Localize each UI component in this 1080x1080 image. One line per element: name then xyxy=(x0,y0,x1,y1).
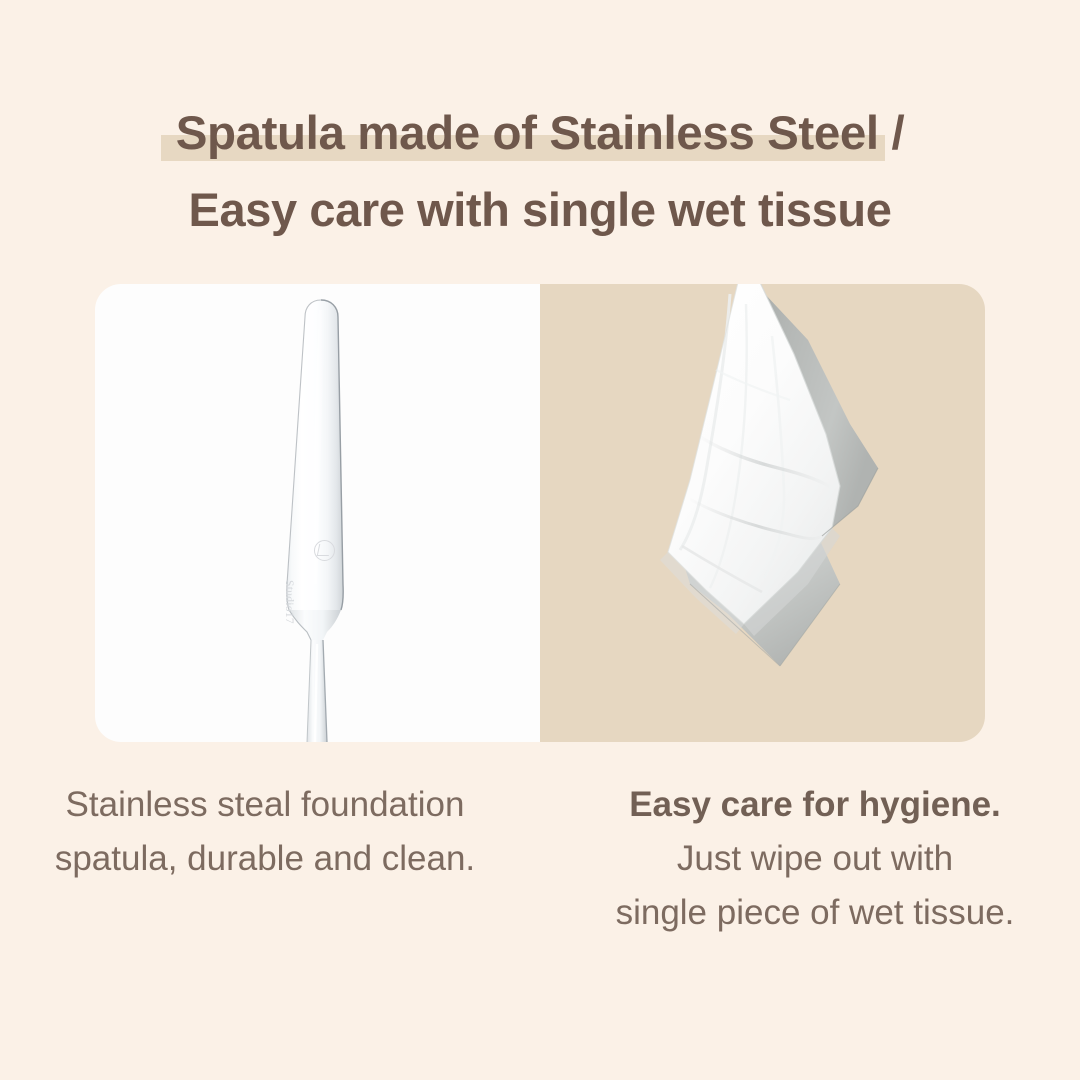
brand-engraving-text: Studio17 xyxy=(283,580,295,646)
caption-left-line-2: spatula, durable and clean. xyxy=(0,832,530,886)
tissue-panel xyxy=(540,284,985,742)
caption-left: Stainless steal foundation spatula, dura… xyxy=(0,778,544,940)
image-card: Studio17 xyxy=(95,284,985,742)
product-feature-card: Spatula made of Stainless Steel / Easy c… xyxy=(0,0,1080,1080)
caption-right-line-3: single piece of wet tissue. xyxy=(550,886,1080,940)
caption-right: Easy care for hygiene. Just wipe out wit… xyxy=(544,778,1080,940)
brand-logo-icon xyxy=(314,540,335,561)
headline-highlighted-text: Spatula made of Stainless Steel xyxy=(176,96,879,172)
tissue-image xyxy=(540,284,985,742)
headline-block: Spatula made of Stainless Steel / Easy c… xyxy=(0,96,1080,248)
caption-left-line-1: Stainless steal foundation xyxy=(0,778,530,832)
captions-block: Stainless steal foundation spatula, dura… xyxy=(0,778,1080,940)
tissue-illustration xyxy=(540,284,985,742)
spatula-shoulder xyxy=(289,610,341,640)
caption-right-line-1: Easy care for hygiene. xyxy=(550,778,1080,832)
headline-line-1-tail: / xyxy=(879,107,905,160)
spatula-illustration xyxy=(95,284,540,742)
headline-line-1: Spatula made of Stainless Steel / xyxy=(0,96,1080,172)
spatula-image: Studio17 xyxy=(95,284,540,742)
headline-line-2: Easy care with single wet tissue xyxy=(0,172,1080,248)
caption-right-line-2: Just wipe out with xyxy=(550,832,1080,886)
spatula-panel: Studio17 xyxy=(95,284,540,742)
